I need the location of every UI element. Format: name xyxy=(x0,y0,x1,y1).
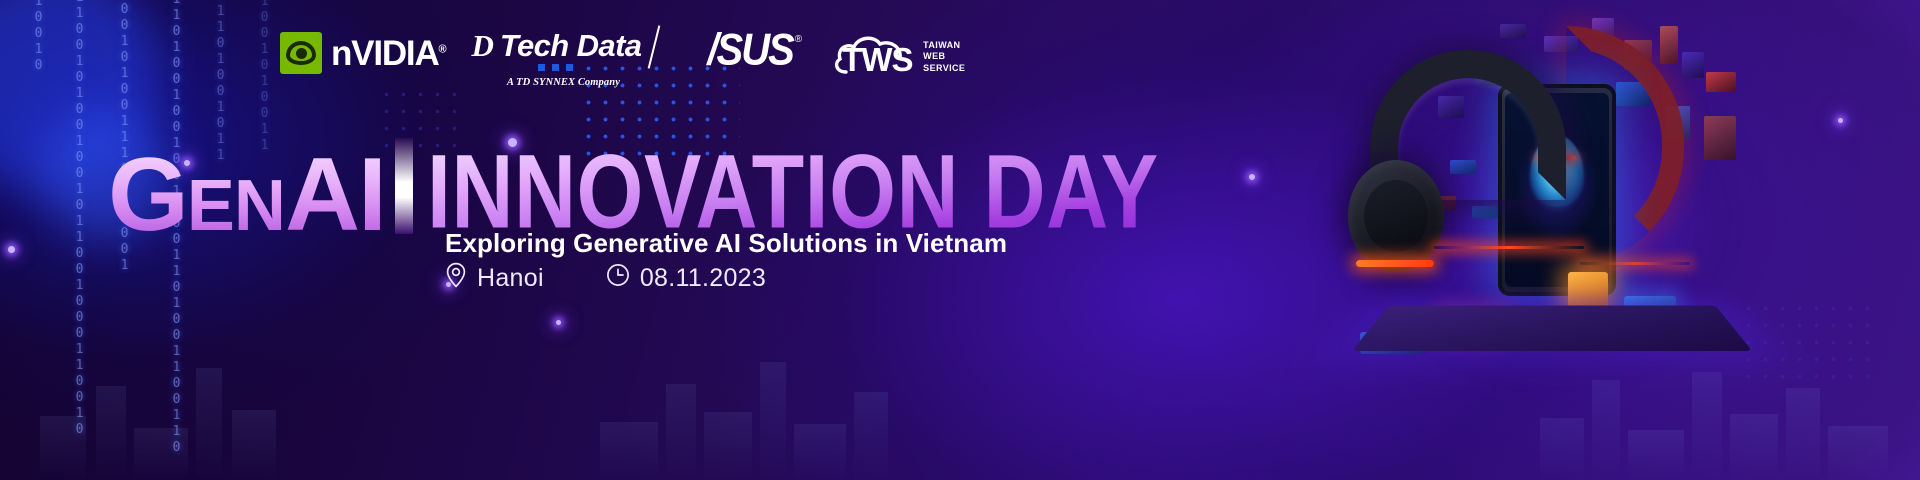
binary-stream: 1001010011 xyxy=(258,0,271,154)
iso-cube xyxy=(1660,26,1678,64)
sponsor-logo-taiwan-web-service[interactable]: TWS TAIWAN WEB SERVICE xyxy=(832,30,965,76)
page-subtitle: Exploring Generative AI Solutions in Vie… xyxy=(445,228,1007,259)
tws-sub-lines: TAIWAN WEB SERVICE xyxy=(923,40,965,74)
sponsor-logo-asus[interactable]: /SUS ® xyxy=(707,30,802,76)
event-location: Hanoi xyxy=(445,262,544,295)
iso-cube xyxy=(1704,116,1736,160)
event-location-label: Hanoi xyxy=(477,264,544,293)
cloud-icon: TWS xyxy=(832,31,916,75)
tech-data-dots-icon xyxy=(538,64,573,71)
tws-sub-line-3: SERVICE xyxy=(923,63,965,74)
nvidia-trademark: ® xyxy=(439,43,446,55)
binary-stream: 10010 xyxy=(32,0,45,74)
event-date: 08.11.2023 xyxy=(606,263,766,294)
event-date-label: 08.11.2023 xyxy=(640,264,766,293)
tws-sub-line-1: TAIWAN xyxy=(923,40,965,51)
tech-data-monogram: D xyxy=(471,30,493,61)
ai-headphones-tablet-isometric-illustration xyxy=(1330,10,1800,380)
title-divider xyxy=(395,138,413,234)
headphones-red-accent xyxy=(1356,260,1434,267)
clock-icon xyxy=(606,263,630,294)
title-en: EN xyxy=(187,176,285,238)
page-title-event: INNOVATION DAY xyxy=(427,146,1159,240)
event-meta-row: Hanoi 08.11.2023 xyxy=(445,262,766,295)
nvidia-eye-logo-icon xyxy=(280,32,322,74)
platform-base xyxy=(1352,306,1752,352)
genai-innovation-day-banner: 10010 1100101001001011001000110010 10010… xyxy=(0,0,1920,480)
sparkle-icon xyxy=(8,246,15,253)
page-title-genai: GENAI xyxy=(108,151,385,240)
sparkle-icon xyxy=(556,320,561,325)
sponsor-logo-row: nVIDIA® D Tech Data A TD SYNNEX Company … xyxy=(280,30,965,96)
title-ai: AI xyxy=(285,151,385,240)
sparkle-icon xyxy=(1249,174,1255,180)
iso-cube xyxy=(1472,206,1500,218)
location-pin-icon xyxy=(445,262,467,295)
laser-beam xyxy=(1580,262,1690,265)
sponsor-logo-tech-data[interactable]: D Tech Data A TD SYNNEX Company xyxy=(471,30,655,88)
title-g: G xyxy=(108,151,187,240)
headline-group: GENAI INNOVATION DAY xyxy=(108,138,1159,240)
tech-data-tagline: A TD SYNNEX Company xyxy=(507,77,620,88)
asus-trademark: ® xyxy=(795,34,802,45)
tws-wordmark: TWS xyxy=(842,43,912,76)
tech-data-wordmark: Tech Data xyxy=(500,30,642,61)
tech-data-wordmark-row: D Tech Data xyxy=(471,30,655,61)
asus-wordmark: /SUS xyxy=(707,28,792,73)
sparkle-icon xyxy=(1838,118,1843,123)
nvidia-wordmark: nVIDIA® xyxy=(331,36,445,71)
ai-face-eye-right xyxy=(1565,156,1576,160)
iso-cube xyxy=(1500,24,1526,38)
tech-data-slash-icon xyxy=(648,25,661,68)
nvidia-wordmark-text: nVIDIA xyxy=(331,34,439,73)
iso-cube xyxy=(1706,72,1736,92)
headphones-earcup xyxy=(1348,160,1444,272)
iso-cube xyxy=(1682,52,1704,78)
tws-sub-line-2: WEB xyxy=(923,51,965,62)
sponsor-logo-nvidia[interactable]: nVIDIA® xyxy=(280,30,445,76)
laser-beam xyxy=(1434,246,1584,249)
